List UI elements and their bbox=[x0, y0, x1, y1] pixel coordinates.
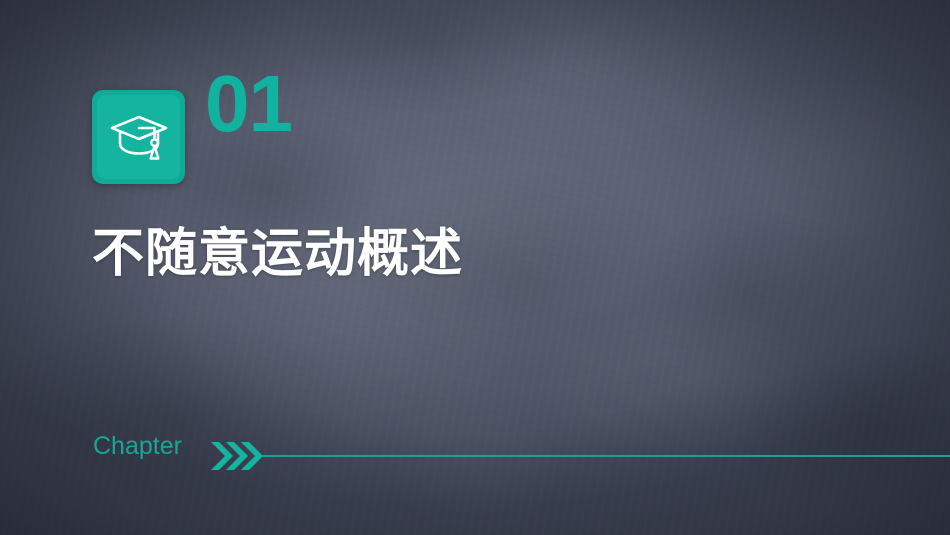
chapter-number: 01 bbox=[205, 64, 292, 144]
accent-rule bbox=[262, 455, 950, 457]
chapter-slide: 01 不随意运动概述 Chapter bbox=[0, 0, 950, 535]
graduation-cap-tile bbox=[92, 90, 185, 184]
chapter-label: Chapter bbox=[93, 434, 182, 459]
chapter-title: 不随意运动概述 bbox=[92, 226, 463, 283]
triple-chevron-right-icon bbox=[209, 438, 265, 474]
graduation-cap-icon bbox=[109, 113, 169, 161]
